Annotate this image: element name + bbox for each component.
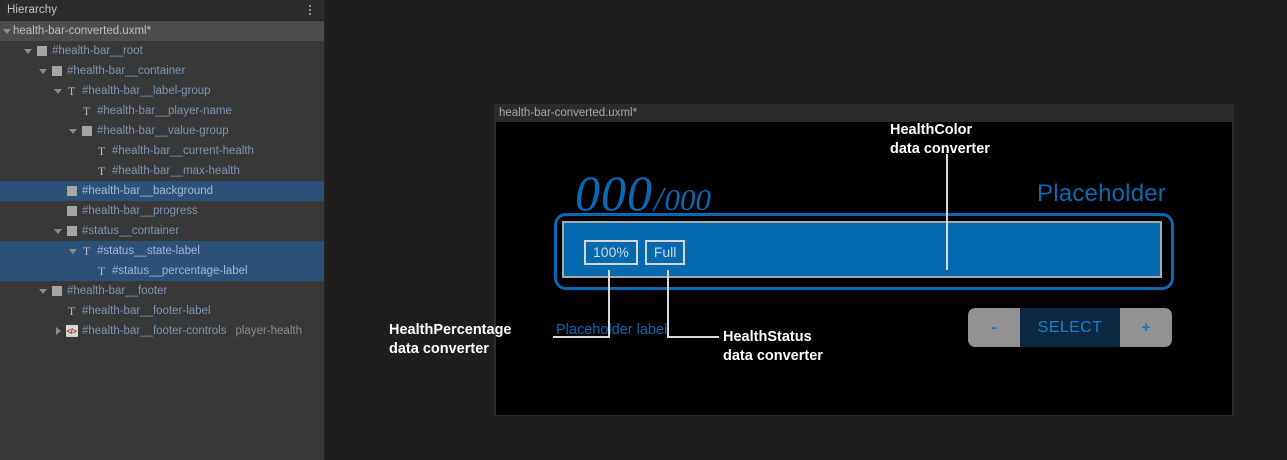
text-element-icon: T xyxy=(79,105,94,117)
decrement-button[interactable]: - xyxy=(968,308,1020,347)
tree-row[interactable]: #health-bar__progress xyxy=(0,201,324,221)
tree-item-label: #health-bar__progress xyxy=(82,205,198,217)
chevron-down-icon[interactable] xyxy=(21,47,34,55)
screen-root: Hierarchy health-bar-converted.uxml* #he… xyxy=(0,0,1287,460)
tree-row-root[interactable]: health-bar-converted.uxml* xyxy=(0,21,324,41)
chevron-right-icon[interactable] xyxy=(51,327,64,335)
chevron-down-icon[interactable] xyxy=(51,227,64,235)
leader-line-health-percentage-vertical xyxy=(608,270,610,338)
tree-item-label: #health-bar__container xyxy=(67,65,185,77)
annotation-health-status-line1: HealthStatus xyxy=(723,328,823,347)
status-state-label: Full xyxy=(645,240,686,265)
tree-item-label: #health-bar__player-name xyxy=(97,105,232,117)
tree-row[interactable]: T#health-bar__max-health xyxy=(0,161,324,181)
tree-item-label: #health-bar__root xyxy=(52,45,143,57)
chevron-down-icon[interactable] xyxy=(66,247,79,255)
chevron-down-icon[interactable] xyxy=(0,27,13,35)
tree-item-label: #health-bar__current-health xyxy=(112,145,254,157)
increment-button[interactable]: + xyxy=(1120,308,1172,347)
tree-root-label: health-bar-converted.uxml* xyxy=(13,25,151,37)
text-element-icon: T xyxy=(94,145,109,157)
select-button[interactable]: SELECT xyxy=(1020,308,1120,347)
hierarchy-tabbar: Hierarchy xyxy=(0,0,324,21)
visual-element-icon xyxy=(49,66,64,76)
annotation-health-percentage: HealthPercentage data converter xyxy=(389,321,512,360)
visual-element-icon xyxy=(64,206,79,216)
preview-title: health-bar-converted.uxml* xyxy=(494,104,1234,122)
tab-hierarchy[interactable]: Hierarchy xyxy=(0,4,57,16)
status-container: 100% Full xyxy=(584,240,685,265)
tree-item-sublabel: player-health xyxy=(235,325,301,337)
tree-row[interactable]: T#health-bar__footer-label xyxy=(0,301,324,321)
tree-row[interactable]: #health-bar__footer xyxy=(0,281,324,301)
annotation-health-color: HealthColor data converter xyxy=(890,121,990,160)
health-bar-outer-frame: 100% Full xyxy=(554,213,1174,290)
visual-element-icon xyxy=(34,46,49,56)
tree-row[interactable]: T#health-bar__player-name xyxy=(0,101,324,121)
tree-row[interactable]: #health-bar__root xyxy=(0,41,324,61)
annotation-health-percentage-line2: data converter xyxy=(389,340,512,359)
leader-line-health-status-horizontal xyxy=(667,336,719,338)
health-bar-background: 100% Full xyxy=(562,221,1162,278)
tree-row[interactable]: T#health-bar__label-group xyxy=(0,81,324,101)
tree-row[interactable]: T#health-bar__current-health xyxy=(0,141,324,161)
annotation-health-color-line1: HealthColor xyxy=(890,121,990,140)
tree-item-label: #health-bar__footer xyxy=(67,285,167,297)
preview-panel: health-bar-converted.uxml* 000/000 Place… xyxy=(494,104,1234,416)
tree-row[interactable]: #status__container xyxy=(0,221,324,241)
text-element-icon: T xyxy=(94,165,109,177)
annotation-health-color-line2: data converter xyxy=(890,140,990,159)
visual-element-icon xyxy=(79,126,94,136)
tree-row[interactable]: #health-bar__container xyxy=(0,61,324,81)
chevron-down-icon[interactable] xyxy=(36,67,49,75)
footer-controls: - SELECT + xyxy=(968,308,1172,347)
chevron-down-icon[interactable] xyxy=(66,127,79,135)
hierarchy-panel: Hierarchy health-bar-converted.uxml* #he… xyxy=(0,0,325,460)
tree-item-label: #health-bar__footer-controls xyxy=(82,325,226,337)
tree-item-label: #health-bar__max-health xyxy=(112,165,240,177)
tree-item-label: #status__container xyxy=(82,225,179,237)
leader-line-health-percentage-horizontal xyxy=(553,336,610,338)
chevron-down-icon[interactable] xyxy=(51,87,64,95)
leader-line-health-color xyxy=(946,154,948,270)
visual-element-icon xyxy=(64,226,79,236)
hierarchy-tree[interactable]: health-bar-converted.uxml* #health-bar__… xyxy=(0,21,324,341)
annotation-health-status-line2: data converter xyxy=(723,347,823,366)
annotation-health-status: HealthStatus data converter xyxy=(723,328,823,367)
preview-canvas: 000/000 Placeholder 100% Full Placeholde… xyxy=(496,122,1232,415)
text-element-icon: T xyxy=(64,85,79,97)
text-element-icon: T xyxy=(79,245,94,257)
tree-row[interactable]: #health-bar__background xyxy=(0,181,324,201)
max-health-value: 000 xyxy=(664,182,711,217)
leader-line-health-status-vertical xyxy=(667,270,669,338)
visual-element-icon xyxy=(49,286,64,296)
tree-item-label: #health-bar__label-group xyxy=(82,85,211,97)
status-percentage-label: 100% xyxy=(584,240,638,265)
annotation-health-percentage-line1: HealthPercentage xyxy=(389,321,512,340)
tree-row[interactable]: </>#health-bar__footer-controlsplayer-he… xyxy=(0,321,324,341)
text-element-icon: T xyxy=(64,305,79,317)
tree-item-label: #health-bar__footer-label xyxy=(82,305,211,317)
kebab-menu-icon[interactable] xyxy=(305,4,315,16)
tree-item-label: #health-bar__value-group xyxy=(97,125,229,137)
chevron-down-icon[interactable] xyxy=(36,287,49,295)
uxml-template-icon: </> xyxy=(64,325,79,337)
tree-item-label: #status__percentage-label xyxy=(112,265,248,277)
tree-item-label: #health-bar__background xyxy=(82,185,213,197)
tree-row[interactable]: #health-bar__value-group xyxy=(0,121,324,141)
visual-element-icon xyxy=(64,186,79,196)
tree-row[interactable]: T#status__percentage-label xyxy=(0,261,324,281)
text-element-icon: T xyxy=(94,265,109,277)
tree-item-label: #status__state-label xyxy=(97,245,200,257)
player-name-label: Placeholder xyxy=(1037,180,1166,208)
tree-row[interactable]: T#status__state-label xyxy=(0,241,324,261)
